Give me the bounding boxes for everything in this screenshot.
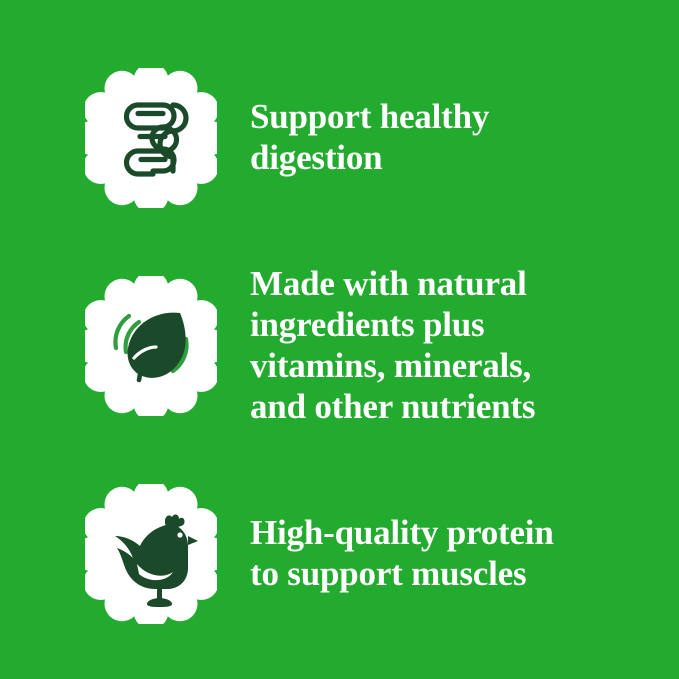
chicken-protein-icon bbox=[85, 484, 217, 624]
badge-protein bbox=[85, 484, 217, 624]
benefits-panel: Support healthy digestion bbox=[0, 0, 679, 679]
badge-natural-ingredients bbox=[85, 276, 217, 416]
benefit-row-protein: High-quality protein to support muscles bbox=[0, 450, 679, 658]
benefit-text-protein: High-quality protein to support muscles bbox=[250, 513, 554, 595]
intestine-digestion-icon bbox=[85, 68, 217, 208]
leaf-natural-ingredients-icon bbox=[85, 276, 217, 416]
benefit-row-natural-ingredients: Made with natural ingredients plus vitam… bbox=[0, 242, 679, 450]
benefit-text-digestion: Support healthy digestion bbox=[250, 97, 489, 179]
badge-digestion bbox=[85, 68, 217, 208]
benefit-row-digestion: Support healthy digestion bbox=[0, 34, 679, 242]
benefit-text-natural-ingredients: Made with natural ingredients plus vitam… bbox=[250, 264, 535, 428]
